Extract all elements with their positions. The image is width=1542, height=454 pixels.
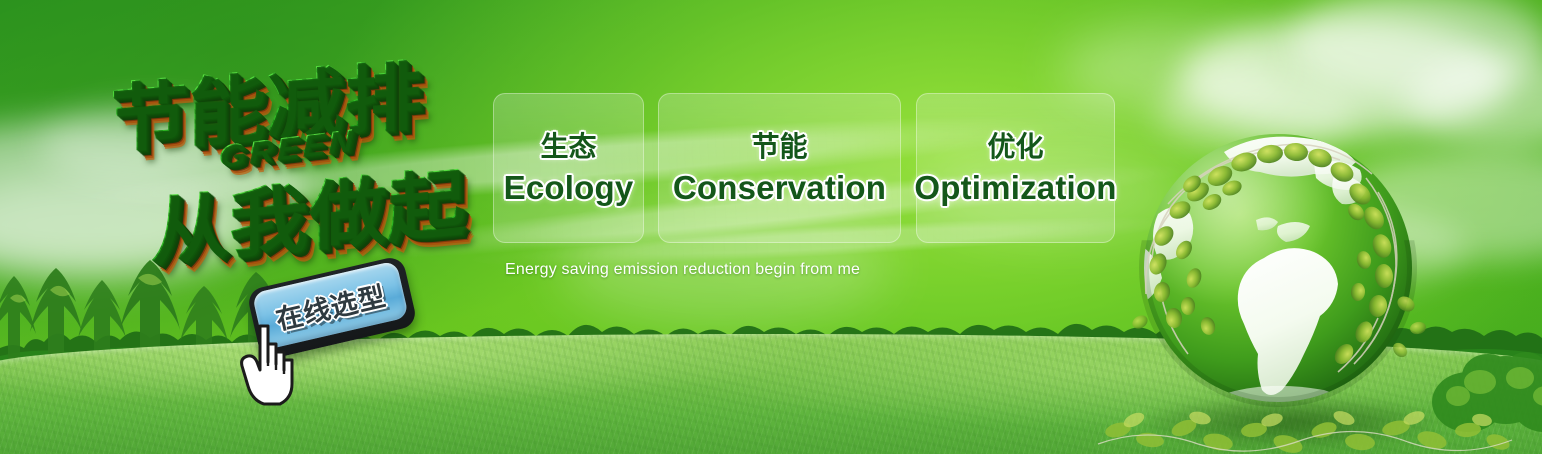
- logo-line-3: 从我做起: [151, 143, 466, 280]
- feature-card-conservation[interactable]: 节能 Conservation: [658, 93, 901, 243]
- green-earth-globe-icon: [1128, 118, 1454, 444]
- feature-card-ecology[interactable]: 生态 Ecology: [493, 93, 644, 243]
- feature-card-cn-label: 生态: [540, 133, 596, 161]
- feature-card-en-label: Conservation: [673, 171, 886, 204]
- logo-3d-text: 节能减排 GREEN 从我做起: [98, 40, 488, 270]
- feature-card-optimization[interactable]: 优化 Optimization: [916, 93, 1115, 243]
- tagline: Energy saving emission reduction begin f…: [505, 261, 860, 279]
- feature-card-en-label: Optimization: [914, 171, 1116, 204]
- feature-card-cn-label: 节能: [751, 133, 807, 161]
- green-energy-banner: 节能减排 GREEN 从我做起 在线选型 生态 Ecology 节能 Conse…: [0, 0, 1542, 454]
- feature-card-cn-label: 优化: [987, 133, 1043, 161]
- feature-card-en-label: Ecology: [504, 171, 634, 204]
